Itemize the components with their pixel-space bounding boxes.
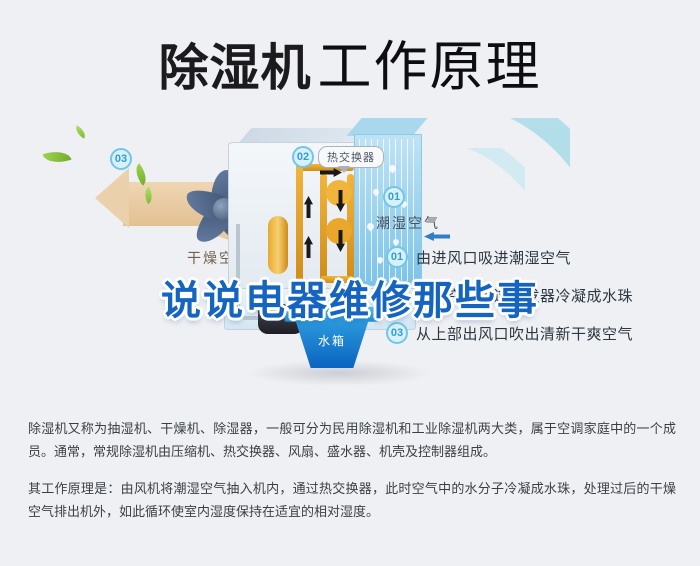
step-badge: 02 [386,284,408,306]
body-paragraph-2: 其工作原理是：由风机将潮湿空气抽入机内，通过热交换器，此时空气中的水分子冷凝成水… [28,478,676,524]
water-droplet [376,256,384,264]
title-secondary: 工作原理 [318,37,542,97]
arrow-head [95,168,129,228]
badge-01: 01 [383,186,405,208]
water-droplet [372,188,380,196]
coil-pipe [296,164,303,284]
badge-02: 02 [292,146,314,168]
step-badge: 03 [386,322,408,344]
flow-arrow-up [304,236,313,258]
title-primary: 除湿机 [159,39,312,97]
callout-02: 02热交换器 [292,146,384,168]
leaf-icon [73,125,88,138]
water-droplet [366,222,376,232]
step-text: 潮湿空气经过蒸发器冷凝成水珠 [416,285,633,306]
step-badge: 01 [386,246,408,268]
tank-label: 水箱 [286,332,378,349]
water-droplet [392,238,400,246]
heat-exchanger-label: 热交换器 [318,146,384,168]
badge-03: 03 [110,148,132,170]
step-text: 从上部出风口吹出清新干爽空气 [416,323,633,344]
humid-air-label: 潮湿空气 [376,213,440,233]
coil-pipe [320,276,354,283]
step-item: 03 从上部出风口吹出清新干爽空气 [386,322,686,344]
article-body: 除湿机又称为抽湿机、干燥机、除湿器，一般可分为民用除湿机和工业除湿机两大类，属于… [28,418,676,538]
leaf-icon [42,146,71,167]
step-item: 01 由进风口吸进潮湿空气 [386,246,686,268]
callout-01: 01 [383,186,405,208]
infographic-page: 除湿机工作原理 干燥空气 [0,0,700,566]
flow-arrow-up [304,196,313,218]
callout-pointer [338,166,350,173]
callout-03: 03 [110,148,132,170]
process-steps: 01 由进风口吸进潮湿空气 02 潮湿空气经过蒸发器冷凝成水珠 03 从上部出风… [386,246,686,360]
water-tank: 水箱 [286,306,378,368]
water-droplet [388,164,398,174]
body-paragraph-1: 除湿机又称为抽湿机、干燥机、除湿器，一般可分为民用除湿机和工业除湿机两大类，属于… [28,418,676,464]
page-title: 除湿机工作原理 [0,22,700,101]
step-item: 02 潮湿空气经过蒸发器冷凝成水珠 [386,284,686,306]
step-text: 由进风口吸进潮湿空气 [416,247,571,268]
